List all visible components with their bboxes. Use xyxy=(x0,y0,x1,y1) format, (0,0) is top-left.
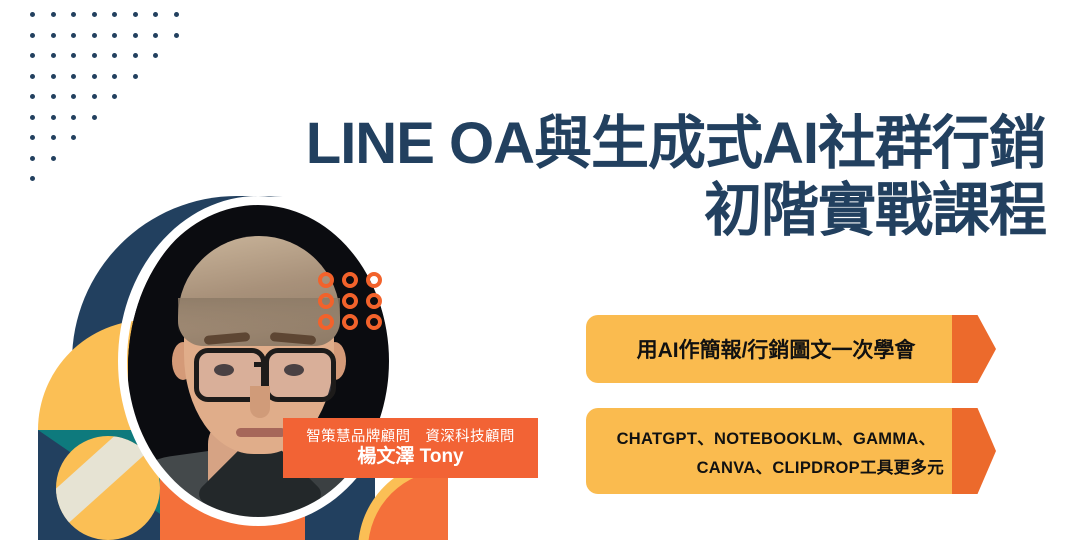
tools-banner-body: CHATGPT、NOTEBOOKLM、GAMMA、 CANVA、CLIPDROP… xyxy=(586,408,966,494)
orange-donut-grid-decoration xyxy=(318,272,384,330)
grid-dot xyxy=(92,115,97,120)
grid-dot xyxy=(71,12,76,17)
grid-dot xyxy=(51,156,56,161)
grid-dot xyxy=(71,94,76,99)
grid-dot xyxy=(30,176,35,181)
grid-dot xyxy=(51,53,56,58)
grid-dot xyxy=(133,12,138,17)
grid-dot xyxy=(112,74,117,79)
grid-dot xyxy=(30,53,35,58)
speaker-role-label: 智策慧品牌顧問 資深科技顧問 xyxy=(306,430,515,445)
grid-dot xyxy=(92,53,97,58)
grid-dot xyxy=(51,12,56,17)
grid-dot xyxy=(112,94,117,99)
grid-dot xyxy=(133,53,138,58)
grid-dot xyxy=(71,115,76,120)
grid-dot xyxy=(30,115,35,120)
donut-dot xyxy=(318,314,334,330)
donut-dot xyxy=(318,293,334,309)
grid-dot xyxy=(71,135,76,140)
grid-dot xyxy=(51,135,56,140)
tools-banner: CHATGPT、NOTEBOOKLM、GAMMA、 CANVA、CLIPDROP… xyxy=(586,408,998,494)
course-poster: 智策慧品牌顧問 資深科技顧問 楊文澤 Tony LINE OA與生成式AI社群行… xyxy=(0,0,1080,540)
grid-dot xyxy=(51,74,56,79)
speaker-name-label: 楊文澤 Tony xyxy=(357,447,463,466)
grid-dot xyxy=(71,33,76,38)
grid-dot xyxy=(112,53,117,58)
donut-dot xyxy=(366,314,382,330)
grid-dot xyxy=(153,33,158,38)
grid-dot xyxy=(92,12,97,17)
benefit-banner-text: 用AI作簡報/行銷圖文一次學會 xyxy=(637,334,916,364)
grid-dot xyxy=(71,53,76,58)
grid-dot xyxy=(30,156,35,161)
grid-dot xyxy=(112,33,117,38)
donut-dot xyxy=(342,272,358,288)
headline-line-1: LINE OA與生成式AI社群行銷 xyxy=(166,114,1046,173)
tools-banner-arrow-icon xyxy=(952,408,996,494)
grid-dot xyxy=(174,33,179,38)
speaker-name-plate: 智策慧品牌顧問 資深科技顧問 楊文澤 Tony xyxy=(283,418,538,478)
grid-dot xyxy=(30,94,35,99)
grid-dot xyxy=(30,135,35,140)
grid-dot xyxy=(92,74,97,79)
grid-dot xyxy=(153,12,158,17)
donut-dot xyxy=(366,272,382,288)
grid-dot xyxy=(51,33,56,38)
donut-dot xyxy=(342,314,358,330)
grid-dot xyxy=(51,94,56,99)
page-title: LINE OA與生成式AI社群行銷 初階實戰課程 xyxy=(166,114,1046,240)
donut-dot xyxy=(342,293,358,309)
grid-dot xyxy=(92,94,97,99)
tools-banner-text-line-2: CANVA、CLIPDROP工具更多元 xyxy=(697,454,948,478)
grid-dot xyxy=(112,12,117,17)
grid-dot xyxy=(133,33,138,38)
headline-line-2: 初階實戰課程 xyxy=(166,181,1046,240)
benefit-banner-body: 用AI作簡報/行銷圖文一次學會 xyxy=(586,315,966,383)
grid-dot xyxy=(30,12,35,17)
benefit-banner: 用AI作簡報/行銷圖文一次學會 xyxy=(586,315,998,383)
grid-dot xyxy=(71,74,76,79)
donut-dot xyxy=(366,293,382,309)
grid-dot xyxy=(133,74,138,79)
grid-dot xyxy=(30,33,35,38)
grid-dot xyxy=(51,115,56,120)
tools-banner-text-line-1: CHATGPT、NOTEBOOKLM、GAMMA、 xyxy=(617,425,936,449)
grid-dot xyxy=(92,33,97,38)
grid-dot xyxy=(153,53,158,58)
donut-dot xyxy=(318,272,334,288)
grid-dot xyxy=(30,74,35,79)
benefit-banner-arrow-icon xyxy=(952,315,996,383)
grid-dot xyxy=(174,12,179,17)
